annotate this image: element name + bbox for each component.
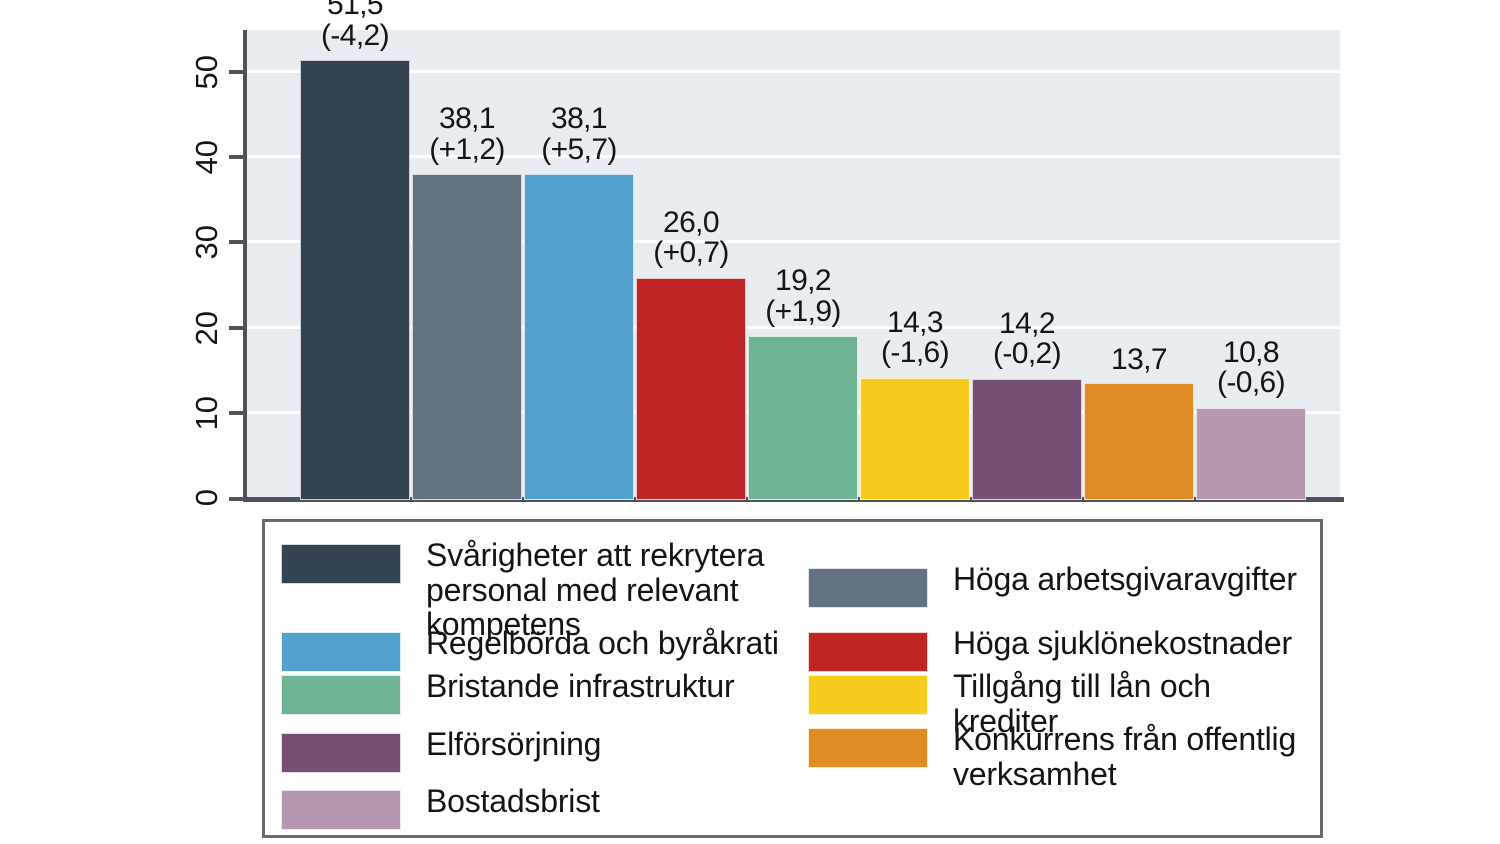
legend-item-sjuklonekostnader-swatch [808,632,928,672]
y-tick-mark-10 [229,411,243,415]
bar-elforsorjning [972,379,1082,500]
bar-arbetsgivar [412,174,522,500]
legend-item-regelborda-label: Regelbörda och byråkrati [426,626,779,661]
legend-item-konkurrens-swatch [808,728,928,768]
y-tick-mark-30 [229,240,243,244]
y-tick-label-40: 40 [191,140,222,174]
legend-item-regelborda[interactable]: Regelbörda och byråkrati [281,626,779,672]
bar-lan-krediter [860,378,970,500]
legend-item-infrastruktur[interactable]: Bristande infrastruktur [281,669,734,715]
legend-item-arbetsgivaravgifter-swatch [808,568,928,608]
y-tick-mark-0 [229,497,243,501]
y-tick-label-50: 50 [191,55,222,89]
y-tick-mark-40 [229,155,243,159]
legend-column-right: Höga arbetsgivaravgifterHöga sjuklönekos… [808,522,1313,835]
bar-bostadsbrist-value-label: 10,8 (-0,6) [1168,338,1334,399]
y-tick-mark-20 [229,326,243,330]
y-tick-label-20: 20 [191,311,222,345]
bars-layer: 51,5 (-4,2)38,1 (+1,2)38,1 (+5,7)26,0 (+… [247,30,1340,500]
legend-column-left: Svårigheter att rekrytera personal med r… [281,522,791,835]
legend-item-rekrytera-swatch [281,544,401,584]
bar-rekrytera-value-label: 51,5 (-4,2) [272,0,438,51]
legend-item-infrastruktur-swatch [281,675,401,715]
legend-item-elforsorjning-swatch [281,733,401,773]
legend-item-sjuklonekostnader-label: Höga sjuklönekostnader [953,626,1292,661]
y-tick-label-10: 10 [191,396,222,430]
legend-item-bostadsbrist-swatch [281,790,401,830]
legend-item-arbetsgivaravgifter[interactable]: Höga arbetsgivaravgifter [808,562,1297,608]
legend-item-bostadsbrist-label: Bostadsbrist [426,784,600,819]
y-tick-label-0: 0 [191,489,222,506]
y-tick-label-30: 30 [191,225,222,259]
legend-item-arbetsgivaravgifter-label: Höga arbetsgivaravgifter [953,562,1297,597]
bar-bostadsbrist [1196,408,1306,500]
bar-sjuklone-value-label: 26,0 (+0,7) [608,208,774,269]
legend-item-konkurrens[interactable]: Konkurrens från offentlig verksamhet [808,722,1296,791]
legend-item-elforsorjning[interactable]: Elförsörjning [281,727,601,773]
legend-item-bostadsbrist[interactable]: Bostadsbrist [281,784,600,830]
legend-item-elforsorjning-label: Elförsörjning [426,727,601,762]
y-tick-mark-50 [229,70,243,74]
legend-item-regelborda-swatch [281,632,401,672]
bar-chart-figure: 50 40 30 20 10 0 51,5 (-4,2)38,1 (+1,2)3… [0,0,1500,844]
bar-regelborda-value-label: 38,1 (+5,7) [496,104,662,165]
bar-konkurrens [1084,383,1194,500]
chart-legend: Svårigheter att rekrytera personal med r… [262,519,1323,838]
legend-item-infrastruktur-label: Bristande infrastruktur [426,669,734,704]
legend-item-sjuklonekostnader[interactable]: Höga sjuklönekostnader [808,626,1292,672]
legend-item-konkurrens-label: Konkurrens från offentlig verksamhet [953,722,1296,791]
legend-item-lan-krediter-swatch [808,675,928,715]
